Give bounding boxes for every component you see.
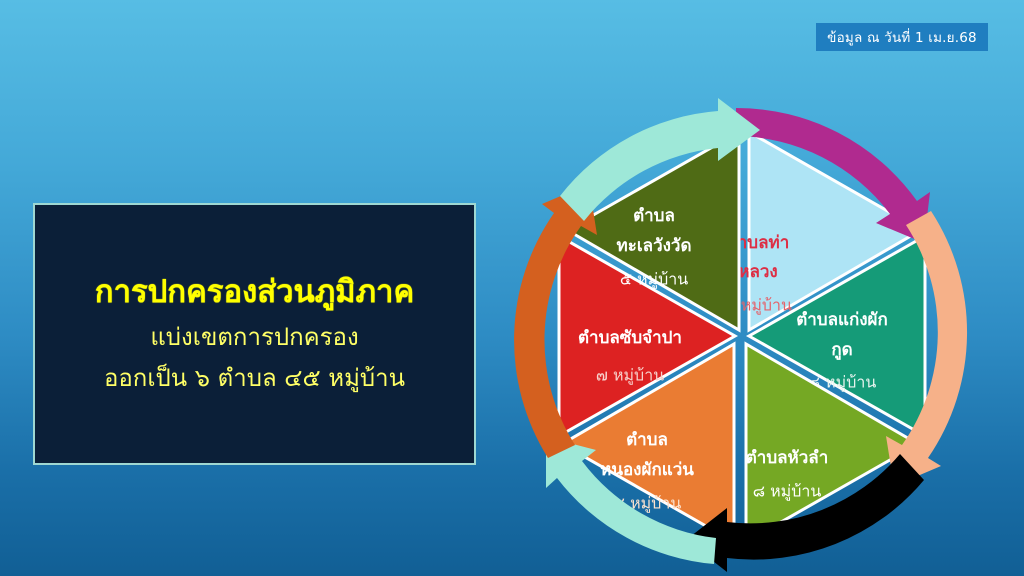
slide-canvas: ข้อมูล ณ วันที่ 1 เม.ย.68 การปกครองส่วนภ…: [0, 0, 1024, 576]
slice-label-line2: ทะเลวังวัด: [617, 236, 692, 256]
slice-count: ๕ หมู่บ้าน: [620, 270, 688, 290]
badge-text: ข้อมูล ณ วันที่ 1 เม.ย.68: [827, 26, 977, 48]
slice-label-line1: ตำบลซับจำปา: [578, 328, 682, 348]
slice-label-line1: ตำบล: [633, 206, 675, 226]
slice-label-line1: ตำบลแก่งผัก: [796, 310, 888, 330]
page-title: การปกครองส่วนภูมิภาค: [95, 275, 414, 311]
subtitle-line-1: แบ่งเขตการปกครอง: [150, 323, 358, 352]
slice-label-line1: ตำบลหัวลำ: [746, 448, 829, 468]
subtitle-line-2: ออกเป็น ๖ ตำบล ๔๕ หมู่บ้าน: [104, 364, 405, 393]
slice-label-line1: ตำบล: [626, 430, 668, 450]
title-panel: การปกครองส่วนภูมิภาค แบ่งเขตการปกครอง ออ…: [33, 203, 476, 465]
pie-chart-wheel: ตำบลท่า หลวง ๙ หมู่บ้าน ตำบลแก่งผัก กูด …: [462, 88, 1022, 576]
slice-label-line2: กูด: [831, 340, 852, 361]
slice-label-line2: หนองผักแว่น: [600, 460, 694, 480]
slice-count: ๗ หมู่บ้าน: [596, 366, 664, 386]
slice-count: ๘ หมู่บ้าน: [753, 482, 822, 502]
slice-label-line2: หลวง: [738, 262, 777, 282]
status-badge: ข้อมูล ณ วันที่ 1 เม.ย.68: [816, 23, 988, 51]
